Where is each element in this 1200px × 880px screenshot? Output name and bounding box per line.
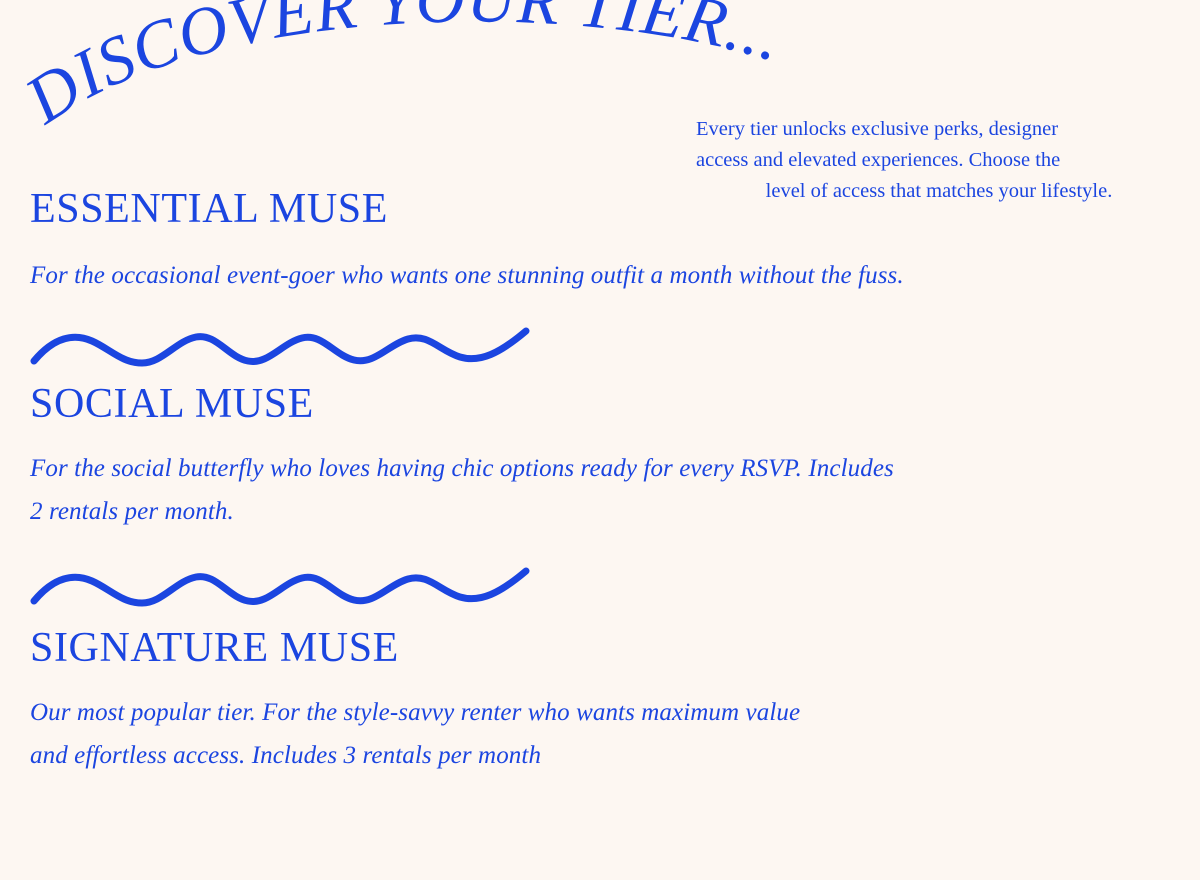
tier-description-line: 2 rentals per month. bbox=[30, 490, 1190, 533]
wavy-divider-2 bbox=[30, 563, 530, 607]
tier-title: ESSENTIAL MUSE bbox=[30, 186, 1190, 232]
headline-text: DISCOVER YOUR TIER... bbox=[11, 0, 792, 138]
tier-title: SIGNATURE MUSE bbox=[30, 625, 1190, 671]
tier-item-signature-muse[interactable]: SIGNATURE MUSE Our most popular tier. Fo… bbox=[30, 625, 1190, 777]
tier-description-line: Our most popular tier. For the style-sav… bbox=[30, 691, 1190, 734]
intro-line-2: access and elevated experiences. Choose … bbox=[696, 145, 1182, 176]
tier-description: For the social butterfly who loves havin… bbox=[30, 447, 1190, 533]
intro-line-1: Every tier unlocks exclusive perks, desi… bbox=[696, 114, 1182, 145]
wavy-divider-1 bbox=[30, 323, 530, 367]
tier-description-line: and effortless access. Includes 3 rental… bbox=[30, 734, 1190, 777]
tier-item-social-muse[interactable]: SOCIAL MUSE For the social butterfly who… bbox=[30, 381, 1190, 533]
tier-description: For the occasional event-goer who wants … bbox=[30, 254, 1190, 297]
tier-description: Our most popular tier. For the style-sav… bbox=[30, 691, 1190, 777]
tier-item-essential-muse[interactable]: ESSENTIAL MUSE For the occasional event-… bbox=[30, 186, 1190, 297]
tier-description-line: For the social butterfly who loves havin… bbox=[30, 447, 1190, 490]
tier-list: ESSENTIAL MUSE For the occasional event-… bbox=[30, 186, 1190, 777]
tier-title: SOCIAL MUSE bbox=[30, 381, 1190, 427]
tier-description-line: For the occasional event-goer who wants … bbox=[30, 254, 1190, 297]
tier-overview-page: DISCOVER YOUR TIER... Every tier unlocks… bbox=[0, 0, 1200, 880]
